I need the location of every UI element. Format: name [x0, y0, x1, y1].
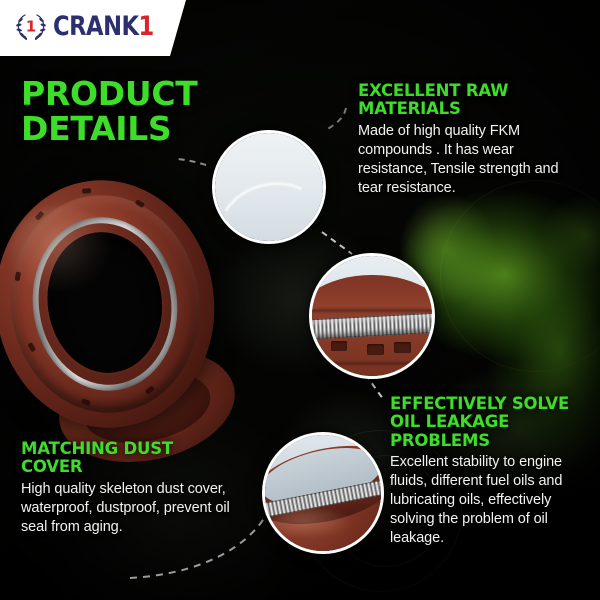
brand-name-main: CRANK — [53, 11, 139, 42]
feature-matching-dust-cover: MATCHING DUST COVER High quality skeleto… — [21, 440, 235, 537]
feature-body: Excellent stability to engine fluids, di… — [390, 453, 590, 548]
feature-effectively-solve-oil-leakage-problems: EFFECTIVELY SOLVE OIL LEAKAGE PROBLEMS E… — [390, 395, 590, 548]
page-title: PRODUCT DETAILS — [21, 76, 197, 147]
laurel-wreath-icon: 1 — [14, 11, 48, 41]
callout-raw-material-closeup[interactable] — [212, 130, 326, 244]
feature-excellent-raw-materials: EXCELLENT RAW MATERIALS Made of high qua… — [358, 82, 584, 198]
main-oil-seal-product-image — [0, 166, 230, 442]
callout-spring-closeup[interactable] — [309, 253, 435, 379]
brand-name-accent: 1 — [139, 11, 154, 42]
feature-heading: MATCHING DUST COVER — [21, 440, 235, 477]
feature-heading: EXCELLENT RAW MATERIALS — [358, 82, 584, 119]
callout-2-groove — [309, 362, 435, 365]
brand-logo[interactable]: 1 CRANK1 — [14, 11, 161, 41]
feature-heading: EFFECTIVELY SOLVE OIL LEAKAGE PROBLEMS — [390, 395, 590, 450]
feature-body: Made of high quality FKM compounds . It … — [358, 122, 584, 198]
callout-2-groove — [309, 309, 435, 312]
callout-2-image — [312, 256, 432, 376]
emblem-number: 1 — [26, 18, 36, 36]
callout-1-image — [215, 133, 323, 241]
callout-dust-cover-closeup[interactable] — [262, 432, 384, 554]
callout-3-image — [265, 435, 381, 551]
callout-2-molding-mark — [331, 341, 347, 351]
feature-body: High quality skeleton dust cover, waterp… — [21, 480, 235, 537]
page-title-line-1: PRODUCT — [21, 74, 197, 113]
page-title-line-2: DETAILS — [21, 111, 197, 146]
brand-wordmark: CRANK1 — [53, 13, 154, 40]
product-details-infographic: 1 CRANK1 PRODUCT DETAILS — [0, 0, 600, 600]
callout-2-molding-mark — [367, 344, 384, 355]
callout-2-molding-mark — [394, 342, 411, 353]
